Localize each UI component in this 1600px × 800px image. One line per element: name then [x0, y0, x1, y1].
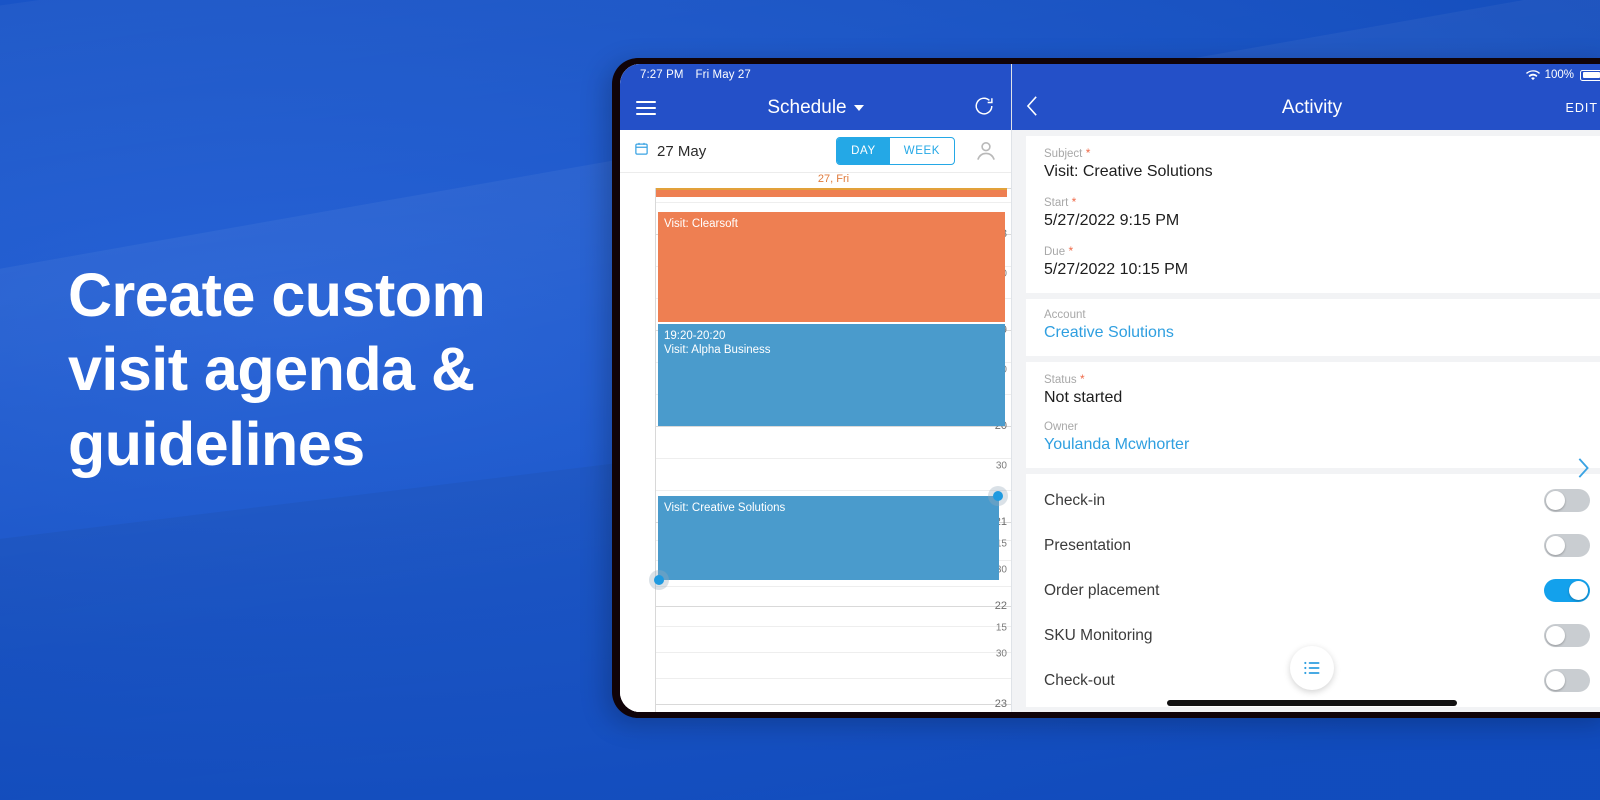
toggle-order-placement[interactable] — [1544, 579, 1590, 602]
tablet-screen: 7:27 PM Fri May 27 Schedule — [620, 64, 1600, 712]
field-subject-label: Subject * — [1044, 146, 1594, 160]
event-title: Visit: Creative Solutions — [664, 501, 993, 515]
time-tick: 30 — [996, 649, 1007, 660]
checklist-label: Check-in — [1044, 492, 1105, 510]
status-date: Fri May 27 — [696, 69, 751, 81]
field-account-value[interactable]: Creative Solutions — [1044, 324, 1594, 342]
schedule-pane: 7:27 PM Fri May 27 Schedule — [620, 64, 1012, 712]
field-account[interactable]: Account Creative Solutions — [1044, 309, 1594, 342]
toggle-check-in[interactable] — [1544, 489, 1590, 512]
field-label-text: Start — [1044, 197, 1068, 209]
activity-form-scroll[interactable]: Subject * Visit: Creative Solutions Star… — [1012, 130, 1600, 712]
time-tick: 22 — [995, 600, 1007, 612]
view-toggle-week[interactable]: WEEK — [890, 138, 954, 164]
required-asterisk: * — [1068, 195, 1076, 209]
schedule-title: Schedule — [620, 97, 1011, 119]
activity-status-owner-card: Status * Not started Owner Youlanda Mcwh… — [1026, 362, 1600, 468]
field-start-value: 5/27/2022 9:15 PM — [1044, 212, 1594, 230]
activity-status-bar: 100% — [1012, 64, 1600, 86]
schedule-status-bar: 7:27 PM Fri May 27 — [620, 64, 1011, 86]
field-status[interactable]: Status * Not started — [1044, 372, 1594, 407]
required-asterisk: * — [1065, 244, 1073, 258]
activity-account-card[interactable]: Account Creative Solutions — [1026, 299, 1600, 356]
toggle-presentation[interactable] — [1544, 534, 1590, 557]
schedule-toolbar: 27 May DAY WEEK — [620, 130, 1011, 173]
schedule-title-text: Schedule — [767, 97, 846, 118]
person-icon[interactable] — [973, 138, 999, 164]
event-title: Visit: Clearsoft — [664, 217, 999, 231]
event-time: 19:20-20:20 — [664, 329, 999, 343]
field-due[interactable]: Due * 5/27/2022 10:15 PM — [1044, 244, 1594, 279]
activity-title: Activity — [1012, 97, 1600, 119]
field-due-label: Due * — [1044, 244, 1594, 258]
schedule-app-bar: Schedule — [620, 86, 1011, 130]
view-toggle-day[interactable]: DAY — [837, 138, 890, 164]
list-icon[interactable] — [1290, 646, 1334, 690]
calendar-day-header: 27, Fri — [620, 173, 1011, 188]
field-label-text: Subject — [1044, 148, 1082, 160]
status-time: 7:27 PM — [640, 69, 684, 81]
field-label-text: Status — [1044, 374, 1077, 386]
field-start[interactable]: Start * 5/27/2022 9:15 PM — [1044, 195, 1594, 230]
field-owner-label: Owner — [1044, 421, 1594, 433]
time-tick: 15 — [996, 623, 1007, 634]
time-gutter — [620, 188, 656, 712]
chevron-right-icon[interactable] — [1576, 457, 1590, 484]
checklist-row-order-placement[interactable]: Order placement — [1026, 568, 1600, 613]
toggle-sku-monitoring[interactable] — [1544, 624, 1590, 647]
toggle-check-out[interactable] — [1544, 669, 1590, 692]
wifi-icon — [1526, 70, 1539, 80]
activity-main-fields-card: Subject * Visit: Creative Solutions Star… — [1026, 136, 1600, 293]
promo-banner: Create custom visit agenda & guidelines … — [0, 0, 1600, 800]
calendar-body: 18 30 19 30 20 30 21 15 30 22 15 30 23 3… — [620, 188, 1011, 712]
battery-percent-label: 100% — [1545, 69, 1574, 81]
checklist-label: SKU Monitoring — [1044, 627, 1153, 645]
field-subject-value: Visit: Creative Solutions — [1044, 163, 1594, 181]
calendar-grid[interactable]: 27, Fri — [620, 173, 1011, 712]
activity-app-bar: Activity EDIT — [1012, 86, 1600, 130]
checklist-label: Presentation — [1044, 537, 1131, 555]
calendar-icon — [634, 141, 649, 161]
event-resize-handle-top[interactable] — [993, 491, 1003, 501]
field-status-label: Status * — [1044, 372, 1594, 386]
required-asterisk: * — [1077, 372, 1085, 386]
toolbar-date-label[interactable]: 27 May — [657, 143, 706, 160]
field-account-label: Account — [1044, 309, 1594, 321]
field-due-value: 5/27/2022 10:15 PM — [1044, 261, 1594, 279]
field-owner[interactable]: Owner Youlanda Mcwhorter — [1044, 421, 1594, 454]
calendar-event-clearsoft[interactable]: Visit: Clearsoft — [658, 212, 1005, 322]
checklist-row-presentation[interactable]: Presentation — [1026, 523, 1600, 568]
edit-button[interactable]: EDIT — [1566, 101, 1598, 115]
field-label-text: Due — [1044, 246, 1065, 258]
time-tick: 30 — [996, 461, 1007, 472]
caret-down-icon[interactable] — [854, 105, 864, 111]
required-asterisk: * — [1082, 146, 1090, 160]
field-subject[interactable]: Subject * Visit: Creative Solutions — [1044, 146, 1594, 181]
field-status-value: Not started — [1044, 389, 1594, 407]
checklist-row-check-in[interactable]: Check-in — [1026, 478, 1600, 523]
checklist-label: Check-out — [1044, 672, 1115, 690]
field-start-label: Start * — [1044, 195, 1594, 209]
home-indicator — [1167, 700, 1457, 706]
all-day-bar[interactable] — [656, 188, 1007, 197]
view-toggle: DAY WEEK — [836, 137, 955, 165]
event-resize-handle-bottom[interactable] — [654, 575, 664, 585]
time-tick: 23 — [995, 698, 1007, 710]
checklist-label: Order placement — [1044, 582, 1159, 600]
field-owner-value[interactable]: Youlanda Mcwhorter — [1044, 436, 1594, 454]
event-title: Visit: Alpha Business — [664, 343, 999, 357]
chevron-left-icon[interactable] — [1026, 95, 1039, 122]
hamburger-icon[interactable] — [636, 101, 656, 115]
battery-full-icon — [1580, 70, 1600, 81]
sync-icon[interactable] — [973, 95, 995, 122]
calendar-event-creative-solutions[interactable]: Visit: Creative Solutions — [658, 496, 999, 580]
promo-headline: Create custom visit agenda & guidelines — [68, 258, 588, 481]
calendar-event-alpha-business[interactable]: 19:20-20:20 Visit: Alpha Business — [658, 324, 1005, 426]
tablet-device-frame: 7:27 PM Fri May 27 Schedule — [612, 58, 1600, 718]
activity-pane: 100% Activity EDIT Subject * — [1012, 64, 1600, 712]
